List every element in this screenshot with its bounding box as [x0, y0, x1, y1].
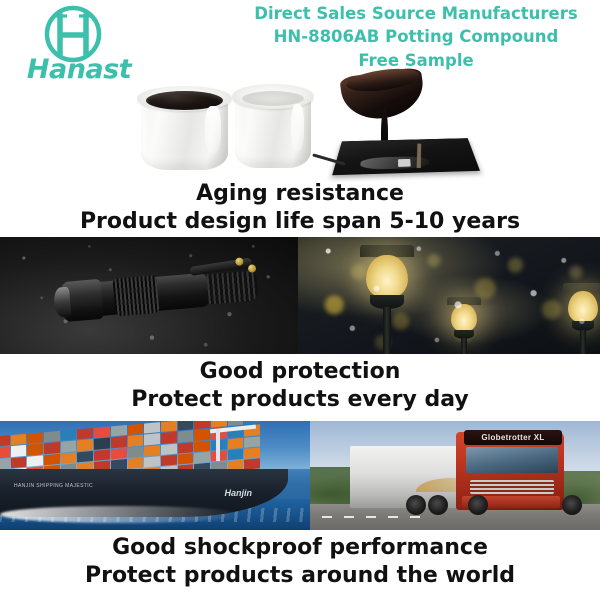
trailer-wheel	[406, 495, 426, 515]
panel-chip	[398, 159, 411, 167]
shipping-container	[11, 434, 27, 446]
empty-white-cup	[232, 84, 314, 168]
shipping-container	[161, 443, 177, 455]
shipping-container	[61, 429, 77, 441]
shipping-container	[161, 421, 177, 432]
shipping-container	[0, 458, 10, 470]
truck-grille	[470, 480, 554, 494]
flashlight-grip	[112, 275, 159, 317]
shipping-container	[44, 453, 60, 465]
shipping-image-band: HANJIN SHIPPING MAJESTIC Hanjin Globetro…	[0, 421, 600, 530]
street-lamps-night-photo	[298, 237, 600, 354]
shipping-container	[144, 433, 160, 445]
cup-with-black-potting-compound	[137, 86, 232, 170]
shipping-container	[94, 449, 110, 461]
header-headline: Direct Sales Source Manufacturers HN-880…	[232, 2, 600, 72]
shipping-container	[161, 455, 177, 467]
trailer-wheel	[428, 495, 448, 515]
shipping-container	[0, 435, 10, 447]
marketing-banner: Hanast Direct Sales Source Manufacturers…	[0, 0, 600, 600]
shipping-container	[111, 425, 127, 437]
electronic-panel	[332, 138, 480, 175]
feature-subline: Protect products every day	[0, 386, 600, 414]
shipping-container	[77, 428, 93, 440]
cup-highlight	[205, 106, 220, 153]
falling-snow	[298, 237, 600, 354]
semi-truck-photo: Globetrotter XL	[310, 421, 600, 530]
shipping-container	[111, 448, 127, 460]
headline-line-1: Direct Sales Source Manufacturers	[232, 2, 600, 25]
shipping-container	[44, 431, 60, 443]
shipping-container	[128, 424, 144, 436]
shipping-container	[94, 438, 110, 450]
truck-front-wheel	[562, 495, 582, 515]
shipping-container	[144, 456, 160, 468]
hull-markings: HANJIN SHIPPING MAJESTIC	[14, 483, 93, 491]
waterproof-flashlight-photo	[0, 237, 298, 354]
shipping-container	[11, 456, 27, 468]
shipping-container	[144, 445, 160, 457]
shipping-container	[27, 444, 43, 456]
feature-caption-shockproof: Good shockproof performance Protect prod…	[0, 534, 600, 589]
shipping-container	[161, 432, 177, 444]
protection-image-band	[0, 237, 600, 354]
shipping-container	[128, 457, 144, 469]
shipping-container	[94, 427, 110, 439]
feature-headline: Good protection	[0, 358, 600, 386]
shipping-container	[27, 455, 43, 467]
shipping-container	[111, 436, 127, 448]
shipping-container	[61, 441, 77, 453]
shipping-container	[77, 439, 93, 451]
shipping-container	[0, 447, 10, 459]
flashlight-bezel	[53, 287, 72, 318]
brass-screw-icon	[248, 264, 257, 273]
panel-slot	[416, 143, 421, 168]
feature-subline: Protect products around the world	[0, 562, 600, 590]
shipping-container	[178, 442, 194, 454]
shipping-container	[44, 442, 60, 454]
truck-windshield	[466, 447, 558, 473]
shipping-container	[11, 445, 27, 457]
shipping-container	[61, 452, 77, 464]
feature-caption-good-protection: Good protection Protect products every d…	[0, 358, 600, 413]
pouring-compound-onto-electronic-panel	[330, 76, 480, 180]
feature-headline: Aging resistance	[0, 180, 600, 208]
cup-highlight	[291, 104, 304, 151]
shipping-container	[178, 453, 194, 465]
truck-rear-wheel	[468, 495, 488, 515]
port-crane	[202, 423, 258, 463]
shipping-container	[77, 451, 93, 463]
shipping-container	[178, 430, 194, 442]
feature-headline: Good shockproof performance	[0, 534, 600, 562]
shipping-container	[144, 422, 160, 434]
shipping-container	[128, 446, 144, 458]
road-lane-marking	[322, 516, 421, 518]
truck-sun-visor: Globetrotter XL	[464, 430, 562, 445]
feature-subline: Product design life span 5-10 years	[0, 208, 600, 236]
ship-name: Hanjin	[224, 488, 252, 498]
hero-photo-group	[0, 76, 600, 180]
shipping-container	[27, 432, 43, 444]
shipping-container	[178, 421, 194, 431]
feature-caption-aging-resistance: Aging resistance Product design life spa…	[0, 180, 600, 235]
truck-visor-text: Globetrotter XL	[464, 430, 562, 445]
headline-line-2: HN-8806AB Potting Compound	[232, 25, 600, 48]
shipping-container	[128, 435, 144, 447]
container-ship-photo: HANJIN SHIPPING MAJESTIC Hanjin	[0, 421, 310, 530]
